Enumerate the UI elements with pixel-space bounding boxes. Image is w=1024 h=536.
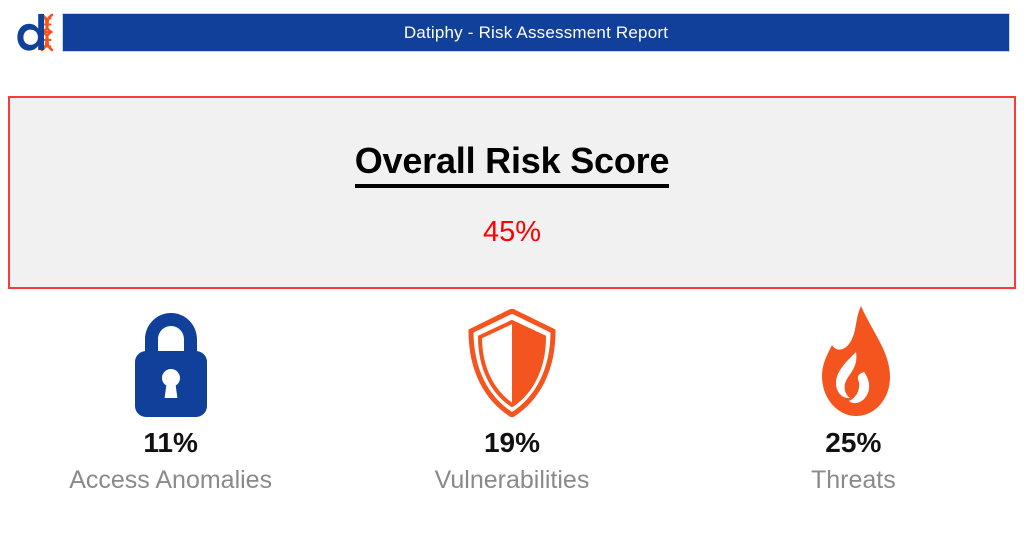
overall-risk-score-heading: Overall Risk Score — [10, 140, 1014, 188]
overall-risk-score-value: 45% — [10, 216, 1014, 249]
metric-value: 19% — [484, 429, 540, 457]
overall-risk-score-heading-text: Overall Risk Score — [355, 140, 670, 188]
risk-assessment-report-page: Datiphy - Risk Assessment Report Overall… — [0, 0, 1024, 536]
metric-label: Threats — [811, 468, 896, 493]
metric-vulnerabilities: 19% Vulnerabilities — [341, 305, 682, 515]
padlock-icon — [131, 305, 211, 417]
metric-value: 25% — [825, 429, 881, 457]
metric-threats: 25% Threats — [683, 305, 1024, 515]
overall-risk-score-panel: Overall Risk Score 45% — [8, 96, 1016, 289]
metric-label: Vulnerabilities — [435, 468, 590, 493]
report-title-bar: Datiphy - Risk Assessment Report — [62, 13, 1010, 52]
datiphy-dna-logo-icon — [14, 10, 60, 56]
report-header: Datiphy - Risk Assessment Report — [0, 0, 1024, 66]
risk-metrics-row: 11% Access Anomalies 19% Vulnerabilities — [0, 305, 1024, 515]
metric-value: 11% — [143, 429, 198, 457]
flame-icon — [811, 305, 895, 417]
metric-access-anomalies: 11% Access Anomalies — [0, 305, 341, 515]
shield-icon — [467, 305, 557, 417]
metric-label: Access Anomalies — [69, 468, 272, 493]
page-title: Datiphy - Risk Assessment Report — [404, 23, 668, 43]
